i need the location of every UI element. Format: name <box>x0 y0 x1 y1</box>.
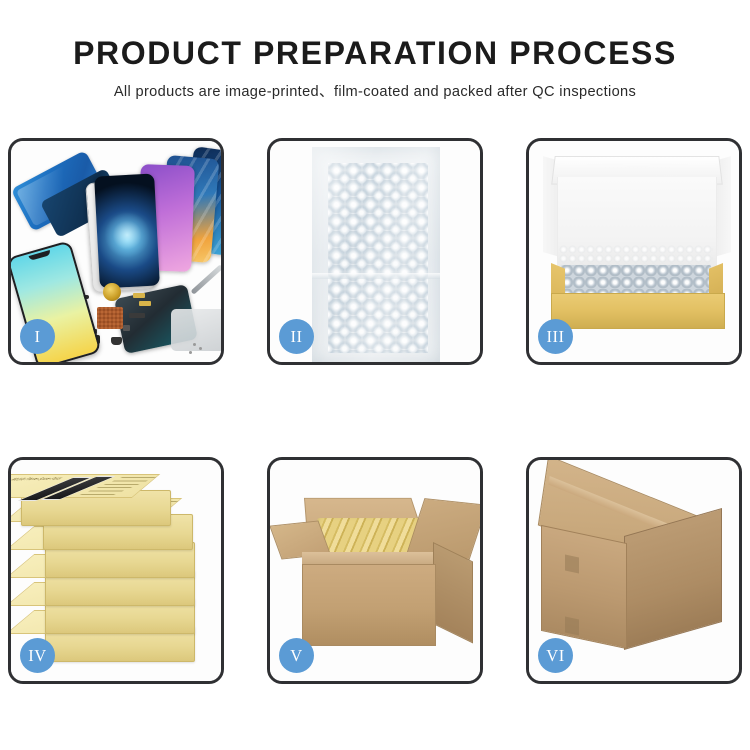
gold-connector-icon-2 <box>139 301 151 306</box>
step-badge-1: I <box>20 319 55 354</box>
bubble-wrap-pouch-icon <box>312 147 440 362</box>
screw-icon-1 <box>193 343 196 346</box>
retail-box-top-1: Mobile Phone Spare Parts <box>11 474 160 498</box>
step-panel-4[interactable]: Mobile Phone Spare Parts Mobile Phone Sp… <box>8 457 224 684</box>
step-panel-1[interactable]: I <box>8 138 224 365</box>
sealed-carton-tape-upper <box>565 555 579 574</box>
phone-notch-icon <box>29 250 52 261</box>
carton-front-face <box>302 564 436 646</box>
step-badge-3: III <box>538 319 573 354</box>
screw-icon-2 <box>199 347 202 350</box>
box-front-panel <box>551 293 725 329</box>
step-panel-6[interactable]: VI <box>526 457 742 684</box>
step-panel-3[interactable]: III <box>526 138 742 365</box>
step-badge-4: IV <box>20 638 55 673</box>
step-badge-2: II <box>279 319 314 354</box>
sealed-carton-left-face <box>541 525 627 649</box>
step-badge-6: VI <box>538 638 573 673</box>
chip-icon-1 <box>123 325 130 331</box>
retail-box-1: Mobile Phone Spare Parts <box>21 490 171 526</box>
process-steps-grid: I II III <box>8 138 742 684</box>
page-header: PRODUCT PREPARATION PROCESS All products… <box>0 0 750 102</box>
flex-cable-icon-3 <box>129 313 145 318</box>
retail-box-label-1: Mobile Phone Spare Parts <box>11 477 66 482</box>
page-subtitle: All products are image-printed、film-coat… <box>0 82 750 102</box>
screw-icon-3 <box>189 351 192 354</box>
coil-part-icon <box>103 283 121 301</box>
step-panel-2[interactable]: II <box>267 138 483 365</box>
step-panel-5[interactable]: V <box>267 457 483 684</box>
plastic-sheen <box>312 147 440 362</box>
sealed-carton-tape-lower <box>565 617 579 636</box>
phone-screen-2 <box>94 174 160 289</box>
speaker-icon <box>111 337 122 345</box>
step-badge-5: V <box>279 638 314 673</box>
board-part-icon <box>97 307 123 329</box>
gold-connector-icon-1 <box>133 293 145 298</box>
page-title: PRODUCT PREPARATION PROCESS <box>0 34 750 72</box>
